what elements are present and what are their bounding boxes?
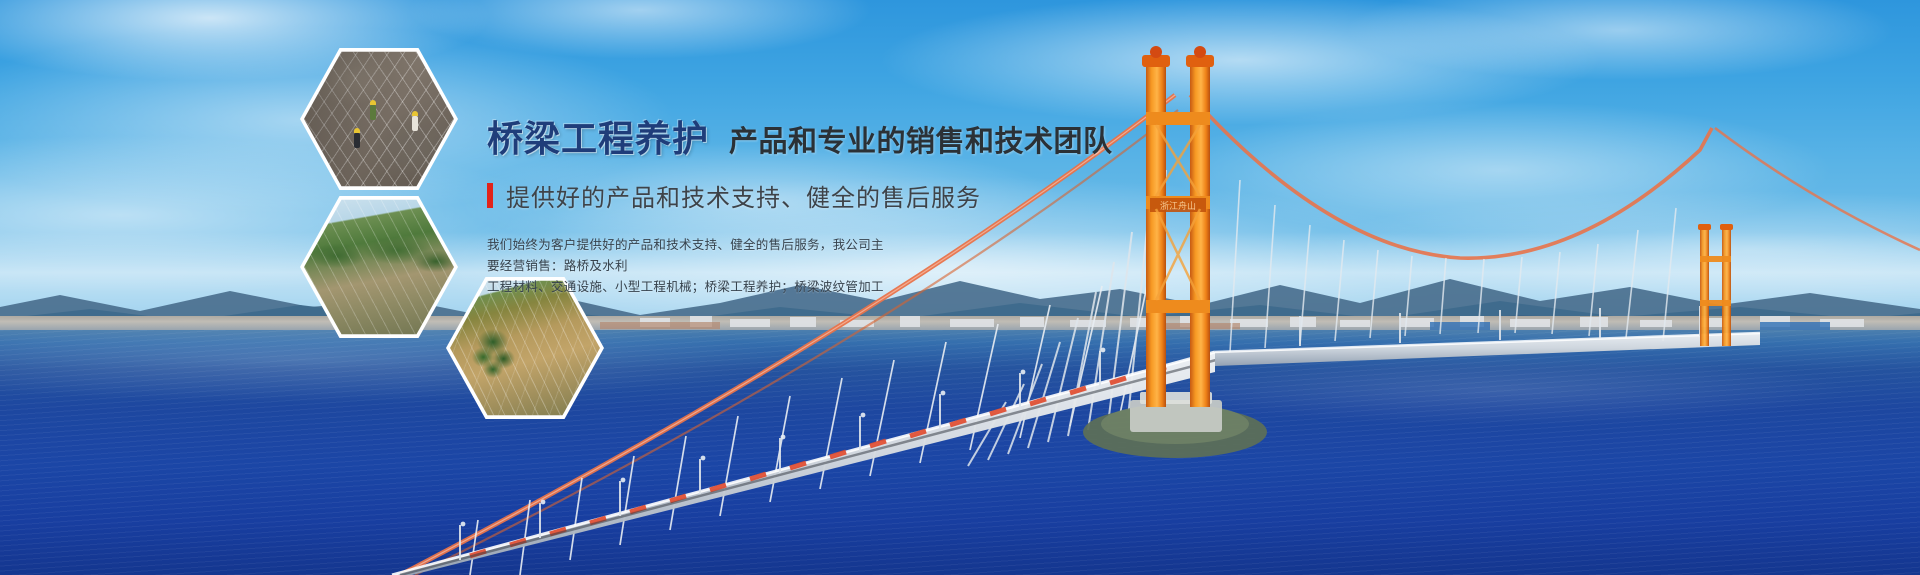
headline-row: 桥梁工程养护 产品和专业的销售和技术团队 (487, 118, 1107, 160)
red-accent-bar (487, 183, 493, 208)
svg-text:浙江舟山: 浙江舟山 (1160, 200, 1196, 212)
subline-row: 提供好的产品和技术支持、健全的售后服务 (487, 178, 1107, 213)
headline-main-title: 桥梁工程养护 (487, 118, 709, 159)
photo-hex-rock-slope-netting-workers (300, 45, 458, 193)
headline-sub-title: 产品和专业的销售和技术团队 (729, 118, 1113, 160)
worker-figure (370, 105, 376, 120)
banner-copy-block: 桥梁工程养护 产品和专业的销售和技术团队 提供好的产品和技术支持、健全的售后服务… (487, 118, 1107, 298)
subline-text: 提供好的产品和技术支持、健全的售后服务 (506, 178, 981, 213)
green-hillside-image (304, 197, 454, 337)
body-paragraph: 我们始终为客户提供好的产品和技术支持、健全的售后服务，我公司主要经营销售：路桥及… (487, 235, 887, 298)
worker-figure (354, 133, 360, 148)
body-line-1: 我们始终为客户提供好的产品和技术支持、健全的售后服务，我公司主要经营销售：路桥及… (487, 235, 887, 277)
body-line-2: 工程材料、交通设施、小型工程机械；桥梁工程养护；桥梁波纹管加工 (487, 277, 887, 298)
rock-slope-netting-image (304, 49, 454, 189)
tree-foliage (471, 328, 515, 384)
worker-figure (412, 116, 418, 131)
photo-hex-green-hillside-slope (300, 193, 458, 341)
hero-banner: 浙江舟山 (0, 0, 1920, 575)
